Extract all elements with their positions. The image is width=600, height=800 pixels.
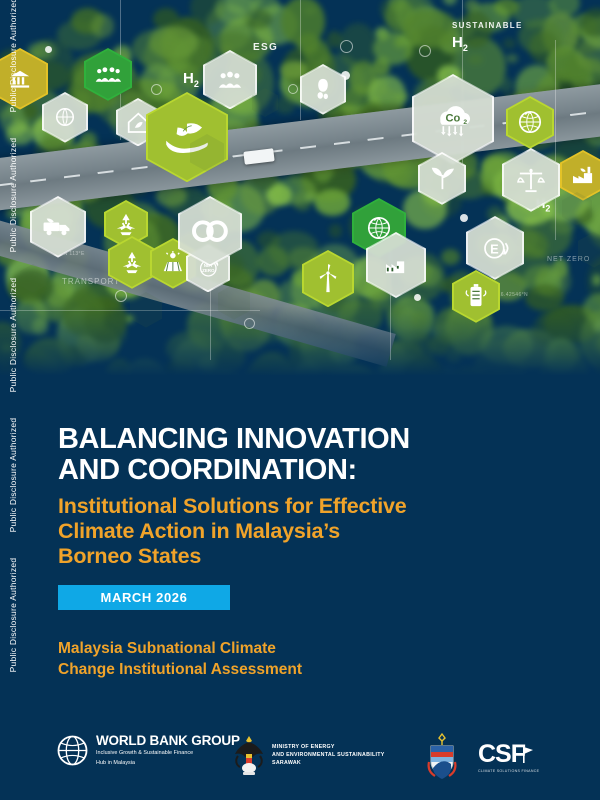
sabah-crest-icon [426,732,458,780]
report-cover-page: SUSTAINABLE ESG TRANSPORT NET ZERO H2 H2… [0,0,600,800]
globe-people-icon-hex [42,92,88,143]
world-bank-globe-icon [56,734,89,767]
csf-wordmark: CSF [478,742,525,767]
subtitle-line-2: Climate Action in Malaysia’s [58,519,528,544]
accent-dot [414,294,421,301]
date-badge: MARCH 2026 [58,585,230,610]
svg-text:E: E [490,241,499,256]
accent-ring [115,290,127,302]
cover-content: BALANCING INNOVATION AND COORDINATION: I… [0,376,600,800]
wind-turbine-icon [304,252,352,305]
hexagon-fill [20,264,46,293]
logo-row: WORLD BANK GROUP Inclusive Growth & Sust… [0,728,600,790]
world-bank-tagline-2: Hub in Malaysia [96,760,240,767]
globe-grid-icon-hex [506,96,554,149]
recycle-icon [110,238,154,287]
people-community-icon-hex [84,48,132,101]
title-line-1: BALANCING INNOVATION [58,424,538,455]
hexagon-fill [190,134,224,172]
tag-esg: ESG [253,42,278,53]
ministry-wordmark: MINISTRY OF ENERGY AND ENVIRONMENTAL SUS… [272,744,385,767]
series-line-2: Change Institutional Assessment [58,659,478,680]
accent-ring [288,84,298,94]
bank-institution-icon-hex [0,48,48,110]
svg-text:ZERO: ZERO [202,268,215,273]
decorative-hexagon [576,230,600,270]
decorative-hexagon [216,282,252,322]
connector-line [555,40,556,240]
sarawak-crest-icon [232,732,266,780]
circular-economy-icon [180,198,240,264]
factory-icon [368,234,424,296]
series-title: Malaysia Subnational Climate Change Inst… [58,638,478,680]
leaf-plant-icon [420,154,464,203]
accent-ring [151,84,162,95]
accent-ring [419,45,431,57]
tag-transport: TRANSPORT [62,277,120,286]
co2-cloud-icon-hex: Co2 [412,74,494,164]
world-bank-tagline-1: Inclusive Growth & Sustainable Finance [96,750,240,757]
decorative-hexagon [18,262,48,295]
page-subtitle: Institutional Solutions for Effective Cl… [58,494,528,569]
tag-sustainable: SUSTAINABLE [452,21,523,30]
people-group-icon [205,52,255,107]
hexagon-fill [130,292,162,328]
accent-ring [340,40,353,53]
electric-truck-icon-hex [30,196,86,258]
sabah-state-crest-logo [426,732,458,785]
page-title: BALANCING INNOVATION AND COORDINATION: [58,424,538,486]
accent-dot [45,46,52,53]
electric-truck-icon [32,198,84,256]
co2-cloud-icon: Co2 [414,76,492,162]
subtitle-line-3: Borneo States [58,544,528,569]
decorative-hexagon [128,290,164,330]
globe-people-icon [44,94,86,141]
scales-balance-icon [504,150,558,210]
ministry-line-3: SARAWAK [272,760,385,768]
people-community-icon [86,50,130,99]
label-hydrogen-1: H2 [183,70,199,89]
people-group-icon-hex [203,50,257,109]
energy-recycle-icon: E [468,218,522,278]
footprint-icon-hex [300,64,346,115]
hexagon-fill [252,88,278,117]
title-line-2: AND COORDINATION: [58,455,538,486]
accent-ring [244,318,255,329]
ministry-of-energy-sarawak-logo: MINISTRY OF ENERGY AND ENVIRONMENTAL SUS… [232,732,385,780]
accent-dot [460,214,468,222]
world-bank-group-logo: WORLD BANK GROUP Inclusive Growth & Sust… [56,734,240,767]
svg-text:Co: Co [446,113,461,125]
battery-icon [454,272,498,321]
footprint-icon [302,66,344,113]
subtitle-line-1: Institutional Solutions for Effective [58,494,528,519]
hexagon-fill [578,232,600,268]
world-bank-name: WORLD BANK GROUP [96,734,240,748]
bank-institution-icon [0,50,46,108]
globe-grid-icon [508,98,552,147]
series-line-1: Malaysia Subnational Climate [58,638,478,659]
world-bank-wordmark: WORLD BANK GROUP Inclusive Growth & Sust… [96,734,240,767]
wind-turbine-icon-hex [302,250,354,307]
ministry-line-2: AND ENVIRONMENTAL SUSTAINABILITY [272,752,385,760]
ministry-line-1: MINISTRY OF ENERGY [272,744,385,752]
csf-logo: CSF CLIMATE SOLUTIONS FINANCE [478,742,539,773]
csf-flag-icon [523,745,534,765]
hexagon-fill [218,284,250,320]
svg-text:2: 2 [463,119,467,126]
hexagon-fill [562,192,592,225]
scales-balance-icon-hex [502,148,560,212]
label-hydrogen-2: H2 [452,34,468,53]
green-factory-icon [562,152,600,199]
csf-tagline: CLIMATE SOLUTIONS FINANCE [478,769,539,773]
energy-recycle-icon-hex: E [466,216,524,280]
